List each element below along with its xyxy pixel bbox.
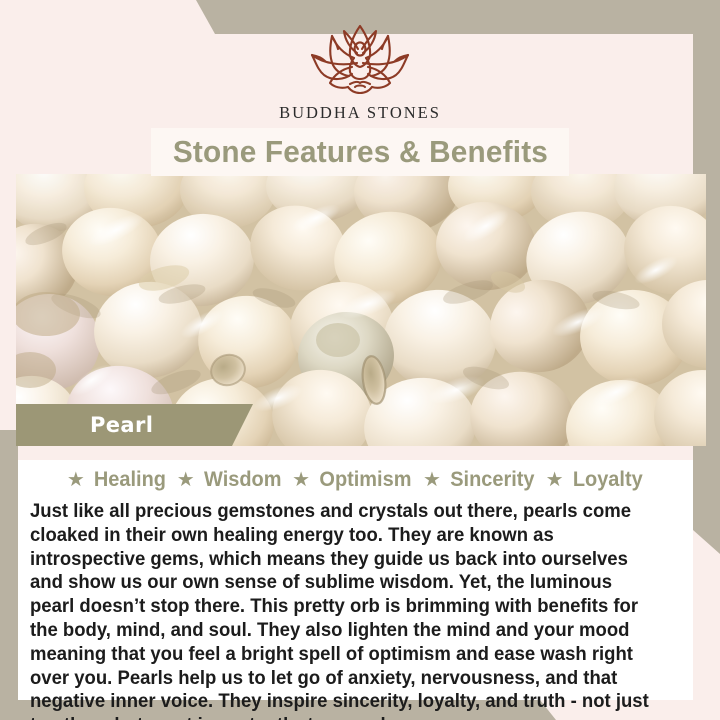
benefit-label: Optimism: [319, 468, 411, 492]
benefit-label: Sincerity: [450, 468, 534, 492]
page-title: Stone Features & Benefits: [172, 134, 547, 170]
star-icon: ★: [292, 470, 310, 490]
benefit-item: ★ Wisdom: [177, 468, 283, 492]
stone-name: Pearl: [90, 413, 153, 437]
star-icon: ★: [177, 470, 195, 490]
benefit-item: ★ Healing: [67, 468, 168, 492]
benefit-label: Wisdom: [204, 468, 281, 492]
brand-name: BUDDHA STONES: [275, 103, 445, 123]
benefit-item: ★ Optimism: [292, 468, 414, 492]
left-edge-taupe-band: [0, 430, 18, 690]
benefit-item: ★ Sincerity: [423, 468, 537, 492]
star-icon: ★: [67, 470, 85, 490]
description-text: Just like all precious gemstones and cry…: [30, 500, 658, 720]
benefit-label: Loyalty: [572, 468, 642, 492]
pearl-photo: Pearl: [16, 174, 706, 446]
benefit-label: Healing: [94, 468, 166, 492]
infographic-card: BUDDHA STONES Stone Features & Benefits: [0, 0, 720, 720]
benefits-row: ★ Healing ★ Wisdom ★ Optimism ★ Sincerit…: [18, 468, 693, 492]
benefit-item: ★ Loyalty: [546, 468, 644, 492]
panel-top-strip: [18, 446, 693, 460]
content-panel: ★ Healing ★ Wisdom ★ Optimism ★ Sincerit…: [18, 446, 693, 700]
stone-name-banner: Pearl: [16, 404, 253, 446]
brand-logo[interactable]: BUDDHA STONES: [275, 22, 445, 123]
star-icon: ★: [423, 470, 441, 490]
title-banner: Stone Features & Benefits: [151, 128, 569, 176]
lotus-meditation-icon: [294, 22, 426, 98]
star-icon: ★: [546, 470, 564, 490]
